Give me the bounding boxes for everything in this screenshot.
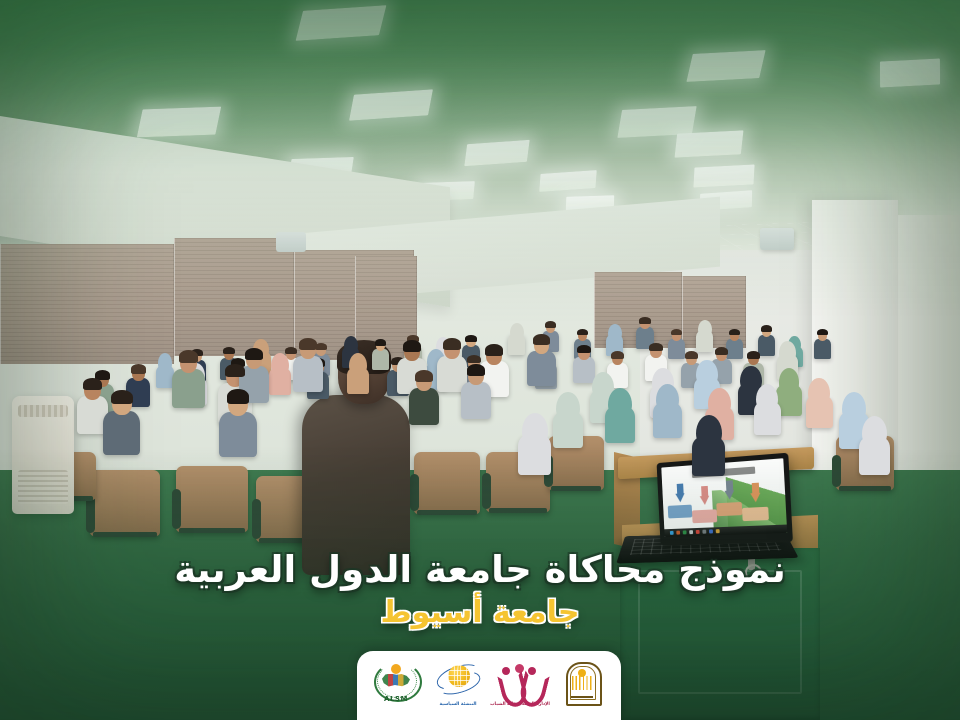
wall-ac-vent-left: [276, 232, 306, 252]
audience-member-hair: [817, 329, 828, 336]
audience-member-hair: [649, 343, 663, 351]
hijab: [698, 320, 712, 337]
audience-member-hair: [611, 351, 624, 359]
hijab: [158, 353, 173, 371]
hijab: [271, 353, 289, 375]
audience-member-hair: [403, 340, 421, 352]
audience-member-hair: [577, 329, 588, 336]
audience-member-hair: [83, 378, 102, 390]
audience-member-torso: [726, 339, 743, 359]
slide-box-3: [716, 502, 742, 516]
windows-taskbar: [664, 525, 787, 537]
hijab: [756, 384, 778, 411]
audience-member-hair: [111, 390, 133, 404]
chair-armrest: [172, 489, 181, 529]
audience-member-torso: [573, 357, 595, 383]
ceiling-light-panel: [137, 107, 221, 138]
ceiling-light-panel: [296, 5, 387, 41]
audience-member-torso: [527, 351, 556, 386]
hijab: [656, 384, 679, 412]
hijab: [608, 388, 632, 417]
audience-member-hair: [485, 344, 503, 356]
hijab: [808, 378, 830, 405]
audience-member-hair: [747, 351, 760, 359]
audience-member-torso: [814, 339, 831, 359]
chair-armrest: [482, 473, 491, 509]
audience-member-hair: [545, 321, 556, 328]
audience-member-hair: [179, 350, 198, 363]
hijab: [696, 360, 717, 386]
audience-member-torso: [461, 382, 492, 419]
globe-icon: [434, 661, 482, 701]
hijab: [779, 341, 796, 362]
audience-chair: [90, 470, 160, 536]
audience-member-hair: [285, 347, 297, 354]
hijab: [344, 336, 358, 353]
audience-member-hair: [639, 317, 651, 324]
slide-box-4: [742, 507, 769, 521]
chair-frame: [839, 486, 891, 491]
audience-member-hair: [533, 334, 550, 345]
university-rays-icon: [572, 676, 592, 690]
ceiling-light-panel: [880, 58, 940, 87]
audience-member-hair: [577, 345, 591, 353]
slide-arrow-3: [724, 480, 736, 500]
audience-member-torso: [103, 411, 140, 455]
audience-member-torso: [293, 356, 323, 392]
audience-member-torso: [758, 335, 775, 356]
hijab: [522, 413, 548, 445]
chair-armrest: [252, 499, 261, 539]
slide-box-1: [668, 505, 693, 519]
ceiling-light-panel: [693, 164, 754, 187]
audience-member-hair: [467, 364, 485, 376]
audience-member-hair: [299, 338, 317, 350]
room-pillar-edge: [898, 215, 960, 485]
political-socialization-logo: التنشئة السياسية: [431, 661, 485, 711]
chair-frame: [551, 486, 601, 491]
hijab: [556, 392, 580, 421]
hijab: [608, 324, 622, 341]
ceiling-light-panel: [686, 50, 765, 82]
slide-arrow-4: [750, 483, 762, 503]
audience-member-hair: [443, 338, 461, 350]
window-blind: [174, 238, 294, 356]
audience-member-hair: [131, 364, 146, 373]
wall-ac-vent-right: [760, 228, 794, 250]
two-figures-icon: [498, 661, 542, 701]
audience-member-hair: [465, 335, 477, 342]
audience-member-torso: [172, 369, 204, 408]
sun-icon: [391, 664, 401, 674]
audience-member-hair: [715, 347, 728, 355]
ceiling-light-panel: [464, 140, 529, 166]
chair-armrest: [832, 455, 841, 487]
hijab: [779, 368, 800, 393]
audience-member-hair: [245, 348, 263, 360]
audience-member-hair: [227, 389, 249, 404]
audience-member-torso: [409, 388, 440, 425]
youth-welfare-logo: الإدارة العامة لرعاية الشباب: [493, 661, 547, 711]
audience-member-hair: [375, 339, 386, 346]
arch-base-icon: [571, 696, 593, 698]
audience-member-hair: [685, 351, 698, 359]
chair-frame: [179, 528, 245, 533]
speaker-jacket: [302, 395, 410, 575]
audience-member-hair: [729, 329, 740, 336]
alsm-logo: ALSM: [369, 661, 423, 711]
event-poster: نموذج محاكاة جامعة الدول العربية جامعة أ…: [0, 0, 960, 720]
audience-member-hair: [415, 370, 433, 382]
chair-frame: [93, 532, 157, 537]
event-photograph: [0, 0, 960, 720]
audience-chair: [414, 452, 480, 514]
chair-frame: [489, 508, 547, 513]
window-blind: [0, 244, 174, 364]
slide-box-2: [692, 509, 717, 523]
chair-frame: [417, 510, 477, 515]
alsm-crest-icon: ALSM: [373, 661, 419, 701]
slide-arrow-1: [675, 483, 686, 502]
slide-arrow-2: [699, 486, 710, 505]
hijab: [696, 415, 722, 447]
hijab: [708, 388, 731, 416]
floor-ac-unit: [12, 396, 74, 514]
audience-member-torso: [372, 349, 389, 370]
audience-member-hair: [761, 325, 772, 332]
political-socialization-caption: التنشئة السياسية: [439, 702, 476, 707]
audience-member-hair: [225, 364, 245, 377]
audience-member-hair: [223, 347, 235, 354]
audience-member-torso: [219, 412, 257, 457]
ceiling-light-panel: [674, 130, 743, 157]
sponsor-logo-panel: ALSM التنشئة السياسية الإدارة العامة لرع…: [357, 651, 621, 720]
audience-member-hair: [671, 329, 682, 336]
audience-chair: [176, 466, 248, 532]
alsm-wordmark: ALSM: [373, 695, 419, 703]
audience-member-hair: [467, 355, 481, 364]
podium-front-panel: [620, 548, 820, 720]
assiut-university-crest-icon: [562, 661, 602, 703]
hijab: [349, 353, 367, 375]
audience-member-torso: [668, 339, 685, 359]
chair-armrest: [410, 474, 419, 511]
hijab: [510, 323, 524, 340]
assiut-university-logo: [555, 661, 609, 711]
